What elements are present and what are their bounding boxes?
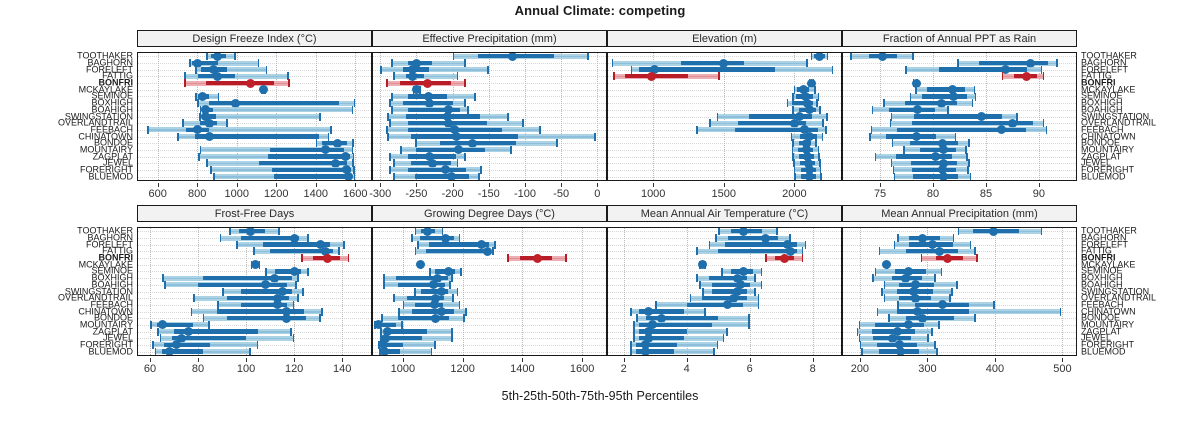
x-tick: [724, 183, 725, 187]
panel-strip-fraction-annual-ppt-as-rain: Fraction of Annual PPT as Rain: [842, 30, 1077, 47]
panel-title-fraction-annual-ppt-as-rain: Fraction of Annual PPT as Rain: [883, 33, 1036, 45]
x-tick: [995, 358, 996, 362]
x-tick: [355, 183, 356, 187]
panel-elevation: [607, 52, 842, 181]
x-tick: [463, 358, 464, 362]
median-marker[interactable]: [380, 347, 389, 356]
x-tick: [813, 358, 814, 362]
x-tick: [880, 183, 881, 187]
panel-design-freeze-index: [137, 52, 372, 181]
x-tick-label: 1600: [570, 363, 594, 375]
x-tick-label: 4: [684, 363, 690, 375]
x-tick: [237, 183, 238, 187]
x-tick-label: -200: [442, 188, 464, 200]
median-marker[interactable]: [165, 347, 174, 356]
x-tick: [158, 183, 159, 187]
x-tick-label: 1400: [510, 363, 534, 375]
x-tick-label: -300: [369, 188, 391, 200]
bar-p25-p75: [913, 174, 959, 178]
panel-title-elevation: Elevation (m): [692, 33, 757, 45]
x-tick-label: 300: [918, 363, 936, 375]
x-tick: [150, 358, 151, 362]
panel-strip-mean-annual-precipitation: Mean Annual Precipitation (mm): [842, 205, 1077, 222]
panel-effective-precipitation: [372, 52, 607, 181]
bar-p25-p75: [415, 174, 469, 178]
x-tick: [416, 183, 417, 187]
cap-p5: [861, 348, 863, 356]
x-tick-label: 200: [851, 363, 869, 375]
percentile-interval-bluemod[interactable]: [138, 172, 371, 181]
cap-p5: [630, 348, 632, 356]
x-tick-label: 80: [192, 363, 204, 375]
x-tick-label: 1000: [391, 363, 415, 375]
median-marker[interactable]: [447, 172, 456, 181]
panel-title-effective-precipitation: Effective Precipitation (mm): [422, 33, 556, 45]
site-label-left-bluemod: BLUEMOD: [88, 172, 133, 181]
x-tick-label: -50: [553, 188, 569, 200]
x-tick-label: 1000: [224, 188, 248, 200]
x-tick: [653, 183, 654, 187]
panel-mean-annual-air-temperature: [607, 227, 842, 356]
cap-p5: [213, 173, 215, 181]
x-tick: [522, 358, 523, 362]
x-tick-label: 75: [874, 188, 886, 200]
percentile-interval-bluemod[interactable]: [608, 347, 841, 356]
x-tick-label: 80: [927, 188, 939, 200]
x-tick: [986, 183, 987, 187]
climate-trellis-figure: Annual Climate: competing Design Freeze …: [0, 0, 1200, 425]
cap-p5: [794, 173, 796, 181]
x-tick-label: 1200: [450, 363, 474, 375]
x-tick-label: 1400: [303, 188, 327, 200]
x-tick: [687, 358, 688, 362]
panel-strip-design-freeze-index: Design Freeze Index (°C): [137, 30, 372, 47]
x-tick: [624, 358, 625, 362]
x-tick: [933, 183, 934, 187]
site-label-right-bluemod: BLUEMOD: [1081, 172, 1126, 181]
panel-mean-annual-precipitation: [842, 227, 1077, 356]
cap-p5: [155, 348, 157, 356]
x-tick: [1062, 358, 1063, 362]
median-marker[interactable]: [896, 347, 905, 356]
percentile-interval-bluemod[interactable]: [843, 347, 1076, 356]
panel-title-growing-degree-days: Growing Degree Days (°C): [424, 208, 555, 220]
x-tick-label: -100: [514, 188, 536, 200]
cap-p95: [354, 173, 356, 181]
site-label-left-bluemod: BLUEMOD: [88, 347, 133, 356]
x-tick: [750, 358, 751, 362]
panel-title-mean-annual-precipitation: Mean Annual Precipitation (mm): [881, 208, 1038, 220]
x-tick-label: 1200: [264, 188, 288, 200]
x-tick-label: 100: [237, 363, 255, 375]
cap-p5: [393, 173, 395, 181]
x-tick-label: 800: [188, 188, 206, 200]
percentile-interval-bluemod[interactable]: [373, 347, 606, 356]
x-tick-label: 85: [980, 188, 992, 200]
x-tick-label: 2000: [782, 188, 806, 200]
panel-title-design-freeze-index: Design Freeze Index (°C): [192, 33, 316, 45]
x-tick-label: 1000: [641, 188, 665, 200]
x-tick: [197, 183, 198, 187]
percentile-interval-bluemod[interactable]: [608, 172, 841, 181]
x-tick-label: -150: [478, 188, 500, 200]
x-tick: [860, 358, 861, 362]
x-tick: [294, 358, 295, 362]
cap-p5: [894, 173, 896, 181]
cap-p95: [249, 348, 251, 356]
cap-p95: [713, 348, 715, 356]
cap-p95: [970, 173, 972, 181]
panel-strip-effective-precipitation: Effective Precipitation (mm): [372, 30, 607, 47]
x-tick: [489, 183, 490, 187]
panel-strip-frost-free-days: Frost-Free Days: [137, 205, 372, 222]
x-tick-label: 0: [594, 188, 600, 200]
panel-strip-growing-degree-days: Growing Degree Days (°C): [372, 205, 607, 222]
x-tick: [246, 358, 247, 362]
x-tick: [927, 358, 928, 362]
x-tick-label: 90: [1033, 188, 1045, 200]
x-tick-label: 120: [285, 363, 303, 375]
panel-frost-free-days: [137, 227, 372, 356]
x-tick: [342, 358, 343, 362]
cap-p95: [820, 173, 822, 181]
x-tick: [597, 183, 598, 187]
panel-strip-elevation: Elevation (m): [607, 30, 842, 47]
x-tick-label: 1600: [343, 188, 367, 200]
x-tick-label: 6: [747, 363, 753, 375]
x-tick-label: 600: [149, 188, 167, 200]
cap-p95: [478, 173, 480, 181]
x-tick-label: 2: [621, 363, 627, 375]
x-tick: [525, 183, 526, 187]
percentile-interval-bluemod[interactable]: [138, 347, 371, 356]
x-tick-label: 140: [333, 363, 351, 375]
x-tick-label: 8: [810, 363, 816, 375]
page-title: Annual Climate: competing: [0, 3, 1200, 18]
median-marker[interactable]: [939, 172, 948, 181]
x-tick-label: 500: [1053, 363, 1071, 375]
x-tick-label: 60: [144, 363, 156, 375]
x-tick-label: 400: [986, 363, 1004, 375]
site-label-right-bluemod: BLUEMOD: [1081, 347, 1126, 356]
x-tick: [380, 183, 381, 187]
median-marker[interactable]: [344, 172, 353, 181]
x-tick: [561, 183, 562, 187]
x-tick: [198, 358, 199, 362]
median-marker[interactable]: [805, 172, 814, 181]
x-tick-label: -250: [405, 188, 427, 200]
median-marker[interactable]: [641, 347, 650, 356]
panel-growing-degree-days: [372, 227, 607, 356]
x-tick: [1039, 183, 1040, 187]
cap-p95: [431, 348, 433, 356]
panel-fraction-annual-ppt-as-rain: [842, 52, 1077, 181]
panel-title-mean-annual-air-temperature: Mean Annual Air Temperature (°C): [641, 208, 808, 220]
x-tick: [794, 183, 795, 187]
x-axis-caption: 5th-25th-50th-75th-95th Percentiles: [0, 389, 1200, 403]
x-tick: [453, 183, 454, 187]
x-tick-label: 1500: [712, 188, 736, 200]
x-tick: [403, 358, 404, 362]
bar-p25-p75: [274, 174, 352, 178]
panel-strip-mean-annual-air-temperature: Mean Annual Air Temperature (°C): [607, 205, 842, 222]
percentile-interval-bluemod[interactable]: [843, 172, 1076, 181]
percentile-interval-bluemod[interactable]: [373, 172, 606, 181]
panel-title-frost-free-days: Frost-Free Days: [215, 208, 294, 220]
x-tick: [276, 183, 277, 187]
x-tick: [582, 358, 583, 362]
cap-p95: [936, 348, 938, 356]
x-tick: [316, 183, 317, 187]
